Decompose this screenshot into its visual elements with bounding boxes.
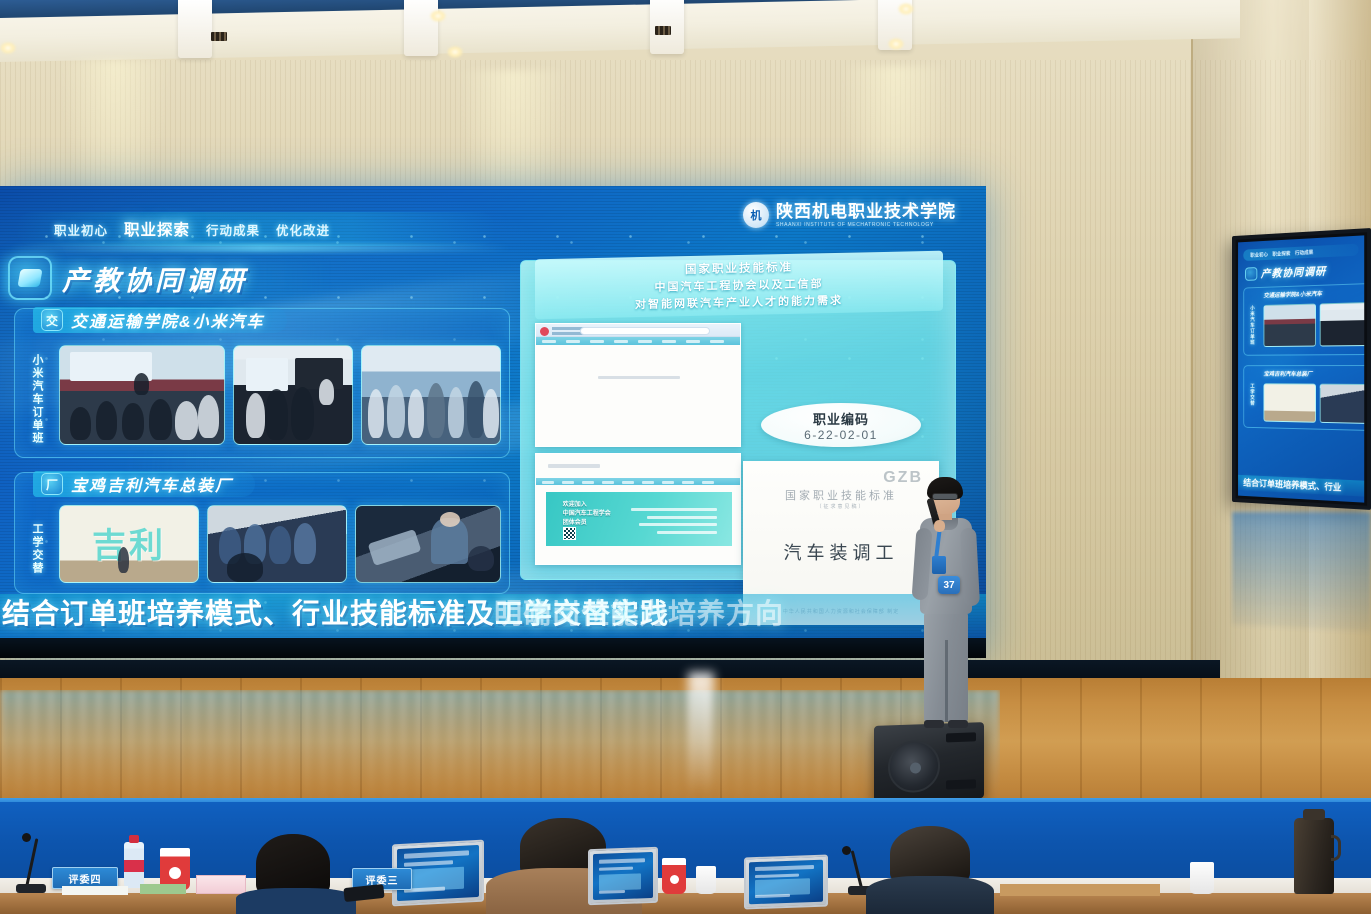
nav-underline-glow — [10, 244, 510, 252]
nav-tab-optimization[interactable]: 优化改进 — [276, 220, 330, 239]
secondary-section-title: 产教协同调研 — [1245, 263, 1326, 282]
membership-banner[interactable]: 欢迎加入中国汽车工程学会团体会员 — [546, 492, 732, 546]
section-title: 产教协同调研 — [8, 256, 248, 300]
presenter-shoe — [948, 720, 968, 728]
assembly-line-photo[interactable] — [207, 505, 347, 583]
school-name-en: SHAANXI INSTITUTE OF MECHATRONIC TECHNOL… — [776, 223, 956, 228]
website-header-bar — [536, 324, 740, 337]
secondary-card1-label: 交通运输学院&小米汽车 — [1263, 289, 1321, 300]
government-website-screenshot[interactable] — [535, 323, 741, 447]
presenter-hand — [934, 520, 945, 532]
white-cup — [1190, 862, 1214, 894]
contestant-number-badge: 37 — [938, 576, 960, 594]
website-body-line — [598, 376, 680, 379]
website-nav-bar[interactable] — [536, 337, 740, 345]
section-title-text: 产教协同调研 — [62, 259, 248, 298]
thermos-flask — [1294, 818, 1334, 894]
occupation-code-title: 职业编码 — [813, 409, 869, 428]
secondary-card1-vertical: 小米汽车订单班 — [1249, 305, 1255, 345]
secondary-monitor-reflection — [1232, 512, 1371, 632]
card2-vertical-label: 工学交替 — [23, 511, 43, 587]
bottle-cap — [129, 835, 139, 843]
card2-ribbon: 厂 宝鸡吉利汽车总装厂 — [33, 471, 255, 497]
card1-ribbon: 交 交通运输学院&小米汽车 — [33, 307, 287, 333]
secondary-footer-text: 结合订单班培养模式、行业 — [1243, 476, 1341, 493]
slide-footer-faded: 明确岗位能力培养方向 — [494, 592, 784, 632]
stage-floor-screen-reflection — [0, 690, 1000, 808]
presenter-leg-split — [945, 640, 948, 722]
speaker-cone-icon — [888, 740, 940, 794]
secondary-photo-2 — [1320, 302, 1365, 347]
secondary-nav-tab-1: 职业初心 — [1250, 251, 1268, 259]
contestant-presenter: 37 — [912, 480, 978, 738]
secondary-photo-4 — [1320, 384, 1365, 424]
sae-china-website-screenshot[interactable]: 欢迎加入中国汽车工程学会团体会员 — [535, 453, 741, 565]
secondary-nav: 职业初心 职业探索 行动成果 — [1243, 244, 1358, 261]
secondary-card2-vertical: 工学交替 — [1249, 383, 1255, 406]
secondary-screen-surface: 职业初心 职业探索 行动成果 产教协同调研 交通运输学院&小米汽车 小米汽车订单… — [1238, 235, 1364, 502]
laptop-screen[interactable] — [749, 860, 823, 905]
laptop-device[interactable] — [744, 855, 828, 910]
thermos-handle — [1331, 835, 1341, 861]
judge-person — [866, 828, 994, 914]
water-bottle — [124, 842, 144, 888]
secondary-monitor[interactable]: 职业初心 职业探索 行动成果 产教协同调研 交通运输学院&小米汽车 小米汽车订单… — [1232, 228, 1371, 510]
nav-tab-career-exploration[interactable]: 职业探索 — [124, 218, 190, 240]
secondary-photo-1 — [1263, 304, 1316, 347]
school-emblem-icon: 机 — [743, 202, 769, 228]
geely-factory-gate-photo[interactable]: 吉利 — [59, 505, 199, 583]
occupation-code-value: 6-22-02-01 — [804, 428, 878, 442]
website-search-input[interactable] — [580, 327, 710, 335]
card1-label: 交通运输学院&小米汽车 — [71, 308, 265, 332]
nav-tab-action-results[interactable]: 行动成果 — [206, 220, 260, 239]
card2-label: 宝鸡吉利汽车总装厂 — [71, 472, 233, 496]
secondary-title-text: 产教协同调研 — [1261, 263, 1326, 281]
headline-line-3: 对智能网联汽车产业人才的能力需求 — [635, 292, 843, 312]
website-nav-bar[interactable] — [536, 478, 740, 485]
cup-logo-icon — [169, 867, 181, 879]
slide-top-nav[interactable]: 职业初心 职业探索 行动成果 优化改进 — [16, 212, 496, 246]
secondary-nav-tab-2: 职业探索 — [1272, 250, 1290, 258]
laptop-body — [588, 847, 658, 905]
judges-desk-front — [0, 893, 1371, 914]
card-geely-factory[interactable]: 厂 宝鸡吉利汽车总装厂 工学交替 吉利 — [14, 472, 510, 594]
secondary-research-icon — [1245, 267, 1257, 281]
vehicle-inspection-photo[interactable] — [355, 505, 501, 583]
doc-occupation-name: 汽车装调工 — [743, 539, 939, 565]
judge-person — [236, 844, 356, 914]
slide-footer-bar: 结合订单班培养模式、行业技能标准及工学交替实践 明确岗位能力培养方向 — [0, 594, 986, 640]
presenter-right-arm — [960, 528, 980, 607]
ceiling-panel — [178, 0, 212, 58]
paper-stack — [62, 886, 128, 895]
red-drink-cup — [662, 858, 686, 894]
card-xiaomi-auto[interactable]: 交 交通运输学院&小米汽车 小米汽车订单班 — [14, 308, 510, 458]
presenter-shoe — [924, 720, 944, 728]
paper-stack — [1000, 884, 1160, 896]
ceiling-speaker-grille — [211, 32, 227, 41]
standards-headline: 国家职业技能标准 中国汽车工程协会以及工信部 对智能网联汽车产业人才的能力需求 — [535, 251, 943, 320]
laptop-device[interactable] — [588, 847, 658, 905]
website-title-line — [548, 464, 600, 468]
paper-stack — [140, 884, 186, 894]
ceiling-downlight — [0, 42, 16, 54]
laptop-screen[interactable] — [593, 852, 653, 900]
doc-subtitle: （征求意见稿） — [743, 503, 939, 510]
ceiling-speaker-grille — [655, 26, 671, 35]
secondary-card-2: 宝鸡吉利汽车总装厂 工学交替 — [1243, 365, 1364, 431]
glasses-icon — [932, 493, 958, 500]
student-discussion-photo[interactable] — [233, 345, 353, 445]
laptop-body — [744, 855, 828, 910]
ceiling-downlight — [898, 3, 914, 15]
presentation-hall-scene: 职业初心 职业探索 行动成果 优化改进 机 陕西机电职业技术学院 SHAANXI… — [0, 0, 1371, 914]
cup-logo-icon — [670, 875, 679, 884]
student-training-photo[interactable] — [361, 345, 501, 445]
thermos-cap — [1303, 809, 1325, 820]
school-name-cn: 陕西机电职业技术学院 — [776, 203, 956, 220]
screen-bottom-bezel — [0, 638, 986, 658]
presenter-id-badge — [932, 556, 946, 574]
microphone-head-icon — [842, 846, 851, 855]
nav-tab-career-origin[interactable]: 职业初心 — [54, 220, 108, 239]
school-logo: 机 陕西机电职业技术学院 SHAANXI INSTITUTE OF MECHAT… — [743, 202, 956, 228]
standards-panel[interactable]: 国家职业技能标准 中国汽车工程协会以及工信部 对智能网联汽车产业人才的能力需求 — [520, 260, 956, 580]
floor-light-hotspot — [688, 672, 714, 792]
card1-vertical-label: 小米汽车订单班 — [23, 351, 43, 447]
headline-line-1: 国家职业技能标准 — [685, 259, 793, 277]
secondary-card-1: 交通运输学院&小米汽车 小米汽车订单班 — [1243, 283, 1364, 356]
secondary-card2-label: 宝鸡吉利汽车总装厂 — [1263, 369, 1312, 378]
ceiling-downlight — [430, 10, 446, 22]
microphone-head-icon — [22, 833, 31, 842]
secondary-footer: 结合订单班培养模式、行业 — [1238, 475, 1364, 497]
secondary-photo-3 — [1263, 383, 1316, 422]
white-cup — [696, 866, 716, 894]
microphone-base — [16, 884, 46, 893]
ceiling-panel — [404, 0, 438, 56]
main-led-screen[interactable]: 职业初心 职业探索 行动成果 优化改进 机 陕西机电职业技术学院 SHAANXI… — [0, 186, 986, 658]
research-book-icon — [8, 256, 52, 300]
qr-code-icon — [563, 527, 576, 540]
ceiling-downlight — [888, 38, 904, 50]
ceiling-downlight — [447, 46, 463, 58]
website-logo-icon — [540, 327, 549, 336]
factory-badge-icon: 厂 — [41, 473, 63, 495]
bottle-label — [124, 860, 144, 872]
speaker-port — [946, 779, 976, 789]
secondary-nav-tab-3: 行动成果 — [1295, 248, 1313, 256]
transport-badge-icon: 交 — [41, 309, 63, 331]
school-name-group: 陕西机电职业技术学院 SHAANXI INSTITUTE OF MECHATRO… — [776, 203, 956, 228]
occupation-code-badge: 职业编码 6-22-02-01 — [761, 403, 921, 447]
membership-banner-title: 欢迎加入中国汽车工程学会团体会员 — [563, 501, 611, 528]
classroom-lecture-photo[interactable] — [59, 345, 225, 445]
doc-title: 国家职业技能标准 — [743, 487, 939, 503]
